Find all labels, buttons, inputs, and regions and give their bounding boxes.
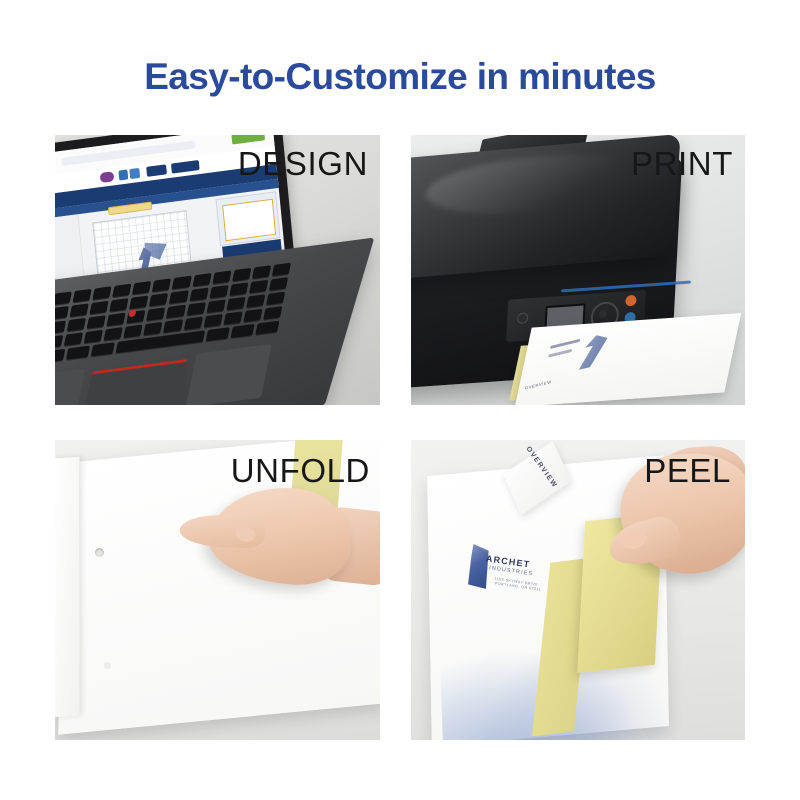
key: [73, 289, 92, 303]
key: [272, 263, 291, 277]
key: [84, 330, 103, 344]
panel-unfold: UNFOLD: [55, 440, 380, 740]
palm-rest-right: [186, 344, 272, 405]
page-title: Easy-to-Customize in minutes: [0, 56, 800, 98]
key: [252, 265, 271, 279]
key: [229, 282, 248, 296]
key: [164, 319, 183, 333]
key: [246, 294, 265, 308]
palm-rest-left: [55, 368, 85, 405]
key: [55, 320, 66, 334]
key: [66, 346, 90, 360]
key: [107, 313, 126, 327]
touchpad: [83, 359, 188, 405]
key: [147, 307, 166, 321]
key: [149, 293, 168, 307]
panel-design: DESIGN: [55, 135, 380, 405]
key: [263, 306, 282, 320]
key: [91, 342, 115, 356]
panel-print: OVERVIEW PRINT: [411, 135, 745, 405]
key: [55, 306, 69, 320]
toolbar-icon-image: [129, 167, 139, 178]
key: [104, 327, 123, 341]
key: [55, 291, 72, 305]
key: [255, 321, 279, 335]
key: [124, 324, 143, 338]
printed-text-line: [550, 339, 580, 349]
promo-graphic: Easy-to-Customize in minutes: [0, 0, 800, 800]
key: [203, 314, 222, 328]
panel-label-design: DESIGN: [238, 145, 368, 183]
preview-panel: [216, 192, 280, 246]
key: [67, 318, 86, 332]
key: [55, 349, 65, 363]
key: [192, 273, 211, 287]
key: [112, 284, 131, 298]
panel-label-peel: PEEL: [644, 452, 731, 490]
key: [223, 311, 242, 325]
key: [144, 322, 163, 336]
key: [269, 277, 288, 291]
hand-unfolding: [177, 471, 380, 612]
printed-text-line: [549, 349, 573, 358]
key: [55, 335, 63, 349]
punch-hole: [95, 548, 104, 557]
key: [110, 298, 129, 312]
panel-label-print: PRINT: [631, 145, 733, 183]
company-logo: ARCHET INDUSTRIES 1165 SKYWAY DRIVE PORT…: [464, 539, 524, 606]
punch-hole: [104, 662, 111, 669]
lid-highlight: [424, 147, 646, 222]
key: [231, 324, 255, 338]
preview-card: [222, 198, 276, 241]
key: [189, 288, 208, 302]
key: [93, 286, 112, 300]
panel-label-unfold: UNFOLD: [231, 452, 370, 490]
key: [64, 332, 83, 346]
key: [206, 327, 230, 341]
printed-sheet: OVERVIEW: [515, 313, 741, 405]
key: [249, 280, 268, 294]
webcam-icon: [154, 135, 158, 136]
key: [183, 317, 202, 331]
power-button: [517, 312, 529, 324]
key: [266, 292, 285, 306]
key: [152, 278, 171, 292]
key: [169, 290, 188, 304]
key: [209, 285, 228, 299]
key: [166, 305, 185, 319]
key: [132, 281, 151, 295]
key: [232, 268, 251, 282]
key: [206, 299, 225, 313]
printed-tab-label: OVERVIEW: [525, 379, 552, 390]
key: [172, 276, 191, 290]
panel-peel: OVERVIEW ARCHET INDUSTRIES 1165 SKYWAY D…: [411, 440, 745, 740]
printed-logo-mark: [566, 329, 623, 373]
key: [87, 315, 106, 329]
key: [90, 301, 109, 315]
key: [226, 297, 245, 311]
key: [130, 295, 149, 309]
binder-punch-strip: [55, 457, 80, 718]
print-button: [625, 295, 637, 307]
key: [243, 309, 262, 323]
toolbar-icon-text: [118, 169, 128, 180]
key: [70, 303, 89, 317]
key: [186, 302, 205, 316]
key: [212, 270, 231, 284]
